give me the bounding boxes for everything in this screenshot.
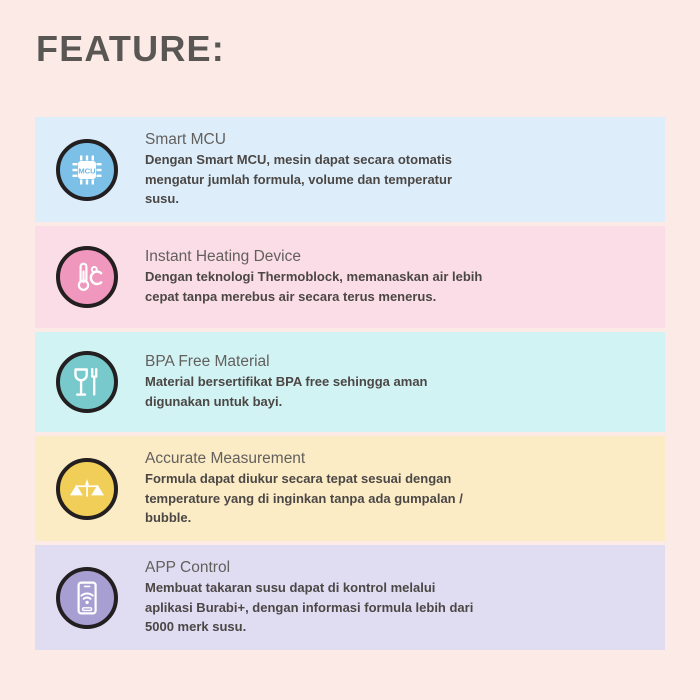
mcu-chip-label: MCU — [78, 166, 96, 175]
feature-description: Formula dapat diukur secara tepat sesuai… — [145, 469, 485, 528]
feature-row[interactable]: Instant Heating Device Dengan teknologi … — [35, 226, 665, 328]
balance-scale-icon — [56, 458, 118, 520]
feature-row[interactable]: APP Control Membuat takaran susu dapat d… — [35, 545, 665, 650]
glass-fork-food-safe-icon — [56, 351, 118, 413]
feature-title: Smart MCU — [145, 130, 485, 149]
feature-list: MCU Smart MCU Dengan Smart MCU, mesin da… — [35, 117, 665, 654]
feature-row[interactable]: BPA Free Material Material bersertifikat… — [35, 332, 665, 432]
feature-title: APP Control — [145, 558, 485, 577]
feature-text-block: APP Control Membuat takaran susu dapat d… — [145, 558, 485, 638]
feature-text-block: Smart MCU Dengan Smart MCU, mesin dapat … — [145, 130, 485, 210]
feature-description: Material bersertifikat BPA free sehingga… — [145, 372, 485, 412]
feature-text-block: Instant Heating Device Dengan teknologi … — [145, 247, 485, 307]
feature-description: Dengan Smart MCU, mesin dapat secara oto… — [145, 150, 485, 209]
feature-row[interactable]: MCU Smart MCU Dengan Smart MCU, mesin da… — [35, 117, 665, 222]
feature-title: BPA Free Material — [145, 352, 485, 371]
feature-title: Accurate Measurement — [145, 449, 485, 468]
feature-description: Membuat takaran susu dapat di kontrol me… — [145, 578, 485, 637]
smartphone-wifi-icon — [56, 567, 118, 629]
feature-text-block: BPA Free Material Material bersertifikat… — [145, 352, 485, 412]
feature-row[interactable]: Accurate Measurement Formula dapat diuku… — [35, 436, 665, 541]
page-title: FEATURE: — [36, 28, 225, 70]
feature-text-block: Accurate Measurement Formula dapat diuku… — [145, 449, 485, 529]
mcu-chip-icon: MCU — [56, 139, 118, 201]
feature-title: Instant Heating Device — [145, 247, 485, 266]
feature-infographic-page: FEATURE: — [0, 0, 700, 700]
feature-description: Dengan teknologi Thermoblock, memanaskan… — [145, 267, 485, 307]
thermometer-celsius-icon — [56, 246, 118, 308]
